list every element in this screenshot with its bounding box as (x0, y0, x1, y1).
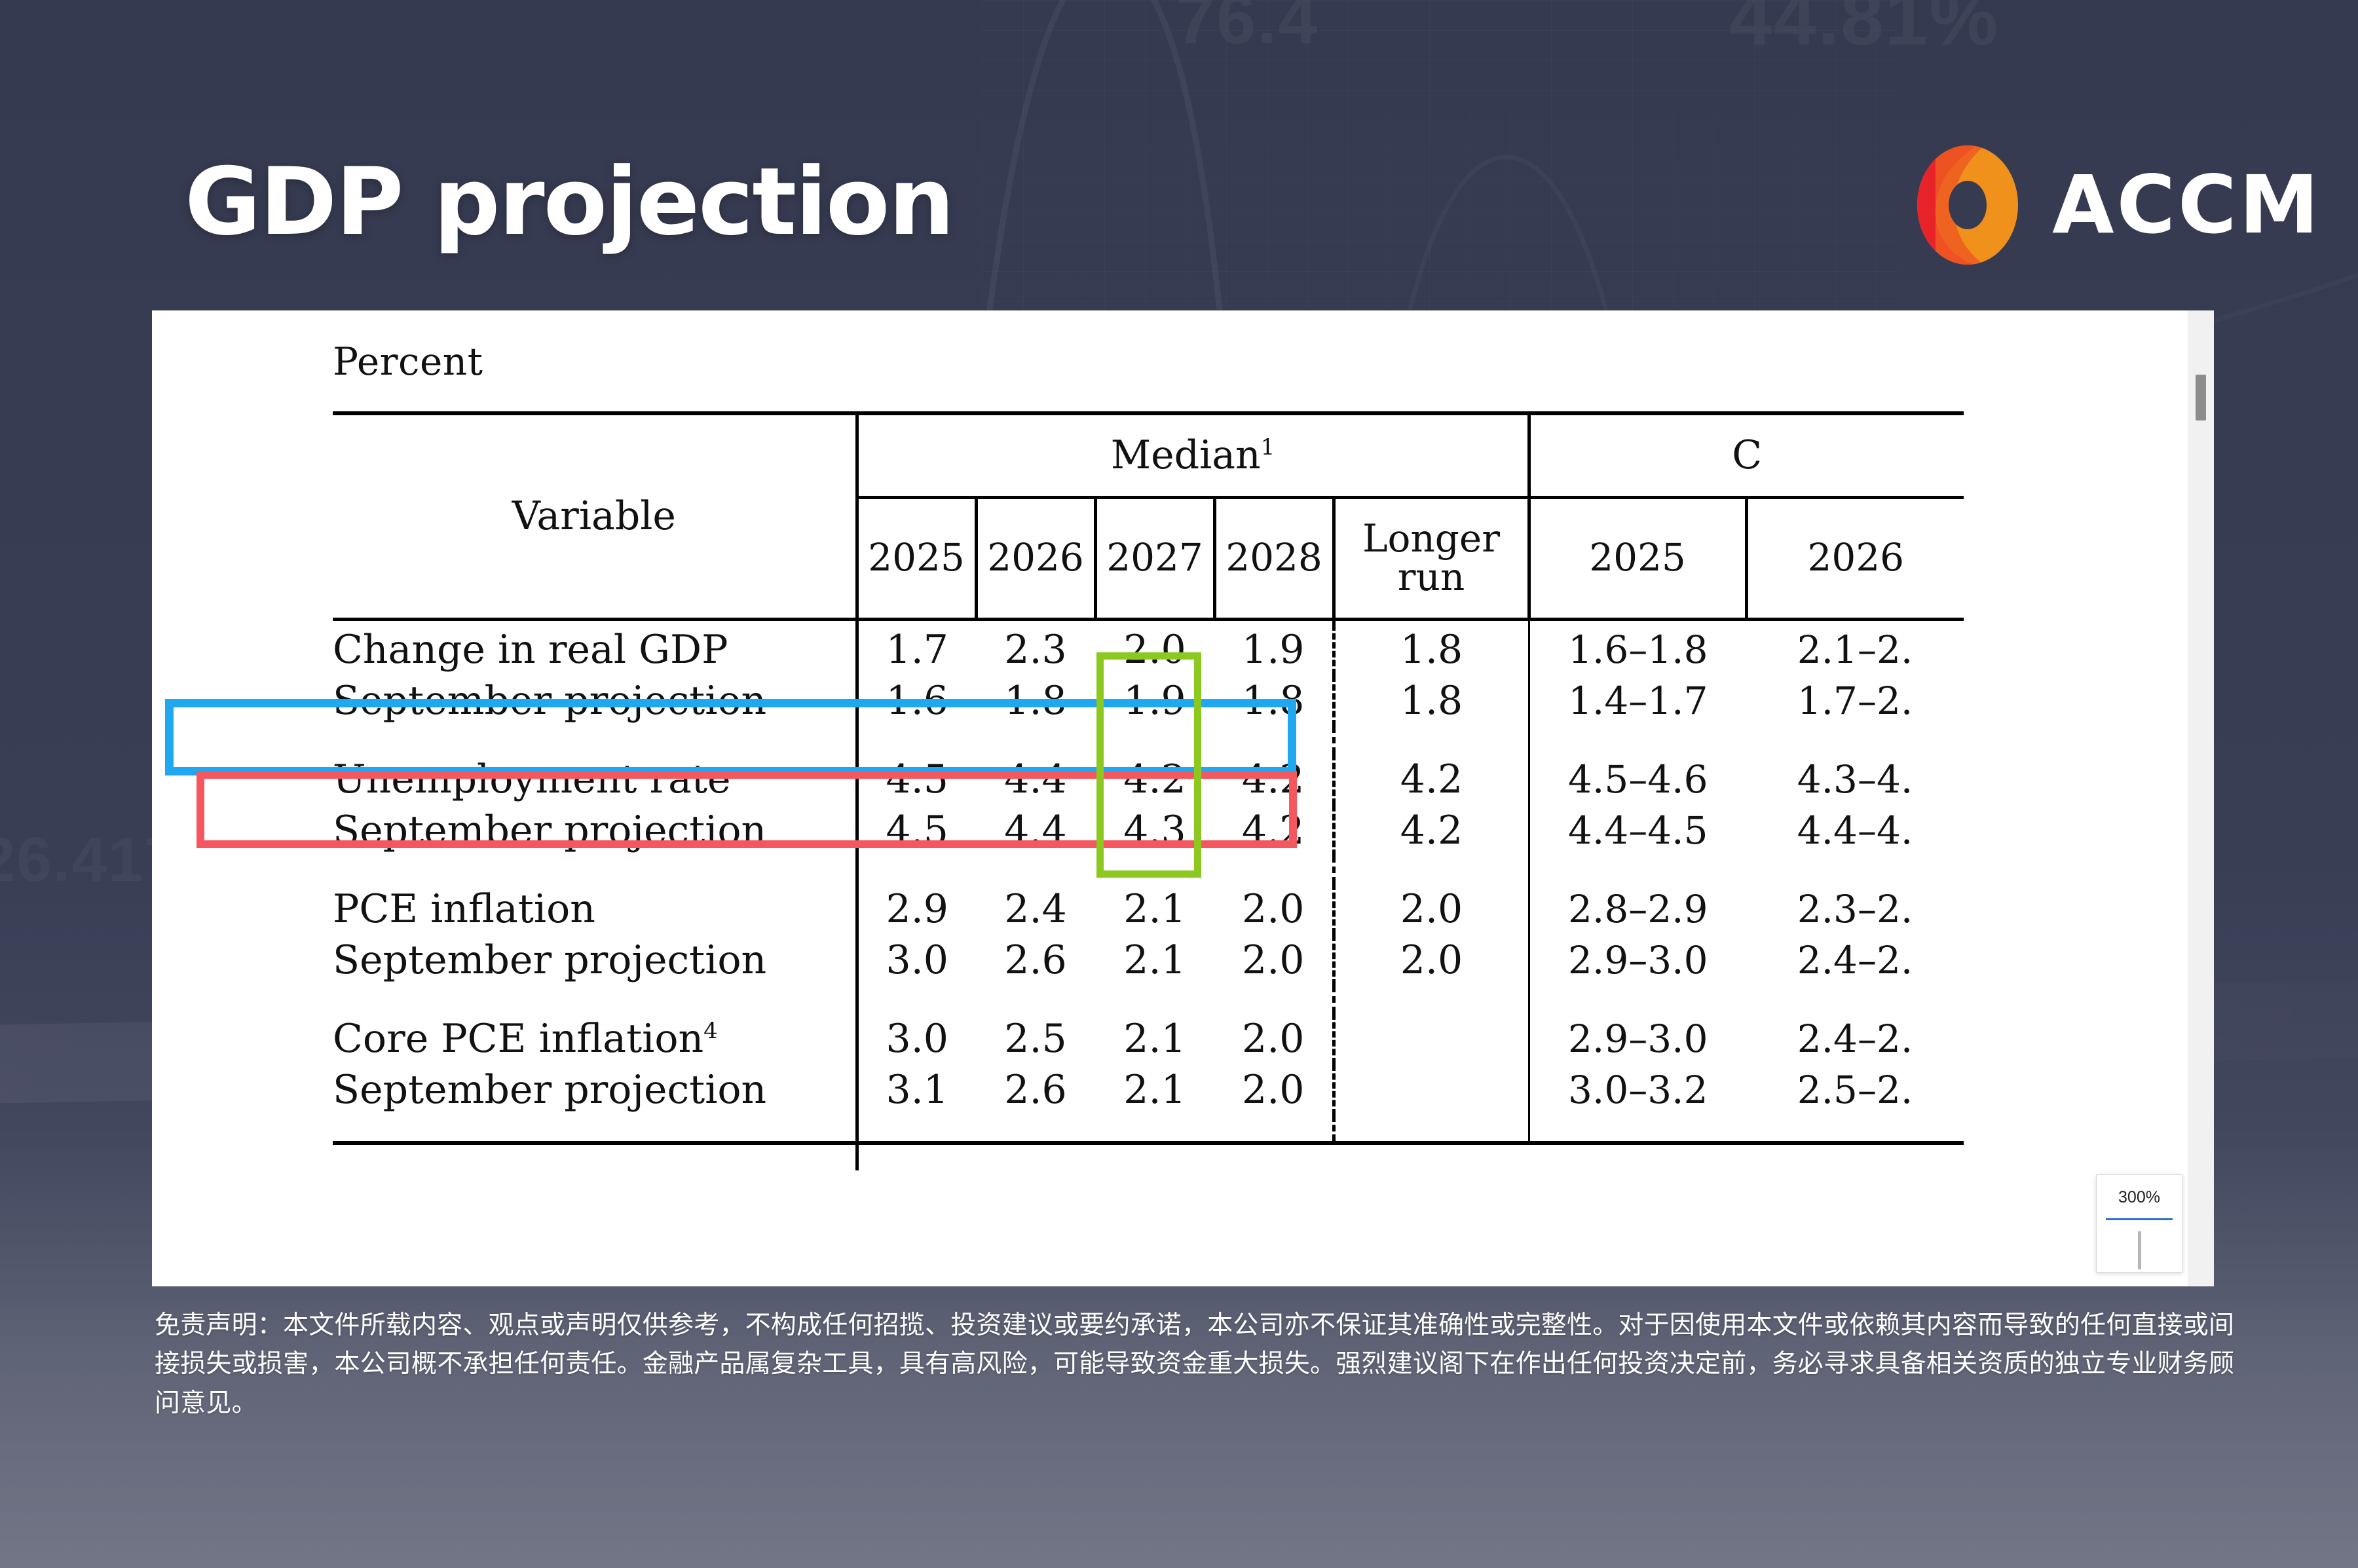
row-label: Core PCE inflation4 (333, 1013, 857, 1064)
cell-median-2028: 2.0 (1214, 1013, 1334, 1064)
cell-median-2027: 2.1 (1095, 1064, 1214, 1115)
cell-median-2026: 4.4 (976, 754, 1095, 805)
fed-projections-table-container: Percent Variable Median1 C 2025 (152, 310, 2214, 1170)
spacer-row (333, 1115, 1964, 1143)
cell-median-2025: 3.0 (857, 1013, 976, 1064)
column-header-range-2026: 2026 (1746, 497, 1964, 619)
page-title: GDP projection (185, 156, 954, 249)
cell-range-2026: 2.4–2. (1746, 935, 1964, 986)
cell-median-2025: 1.6 (857, 675, 976, 726)
cell-median-2028: 1.9 (1214, 624, 1334, 675)
document-viewer[interactable]: Percent Variable Median1 C 2025 (152, 310, 2214, 1286)
longer-run-line-1: Longer (1362, 516, 1500, 561)
longer-run-line-2: run (1398, 555, 1465, 599)
cell-longer-run: 2.0 (1334, 884, 1529, 935)
zoom-slider-handle[interactable] (2138, 1231, 2141, 1269)
cell-range-2025: 2.9–3.0 (1529, 1013, 1746, 1064)
row-label-text: Change in real GDP (333, 627, 728, 673)
column-header-variable: Variable (333, 413, 857, 619)
cell-median-2026: 4.4 (976, 805, 1095, 856)
cell-median-2025: 4.5 (857, 805, 976, 856)
row-label: September projection (333, 675, 857, 726)
table-row[interactable]: Core PCE inflation4 3.0 2.5 2.1 2.0 2.9–… (333, 1013, 1964, 1064)
zoom-control-popup[interactable]: 300% (2096, 1174, 2182, 1273)
column-header-median-2025: 2025 (857, 497, 976, 619)
cell-range-2026: 1.7–2. (1746, 675, 1964, 726)
table-row[interactable]: September projection 1.6 1.8 1.9 1.8 1.8… (333, 675, 1964, 726)
cell-median-2025: 3.0 (857, 935, 976, 986)
cell-median-2025: 4.5 (857, 754, 976, 805)
column-header-longer-run: Longer run (1334, 497, 1529, 619)
cell-median-2027: 1.9 (1095, 675, 1214, 726)
table-row[interactable]: September projection 4.5 4.4 4.3 4.2 4.2… (333, 805, 1964, 856)
cell-median-2026: 2.6 (976, 1064, 1095, 1115)
cell-range-2026: 2.3–2. (1746, 884, 1964, 935)
group-label-median: Median (1111, 432, 1261, 478)
spacer-row (333, 726, 1964, 754)
spacer-row (333, 986, 1964, 1013)
cell-range-2025: 3.0–3.2 (1529, 1064, 1746, 1115)
cell-range-2025: 2.8–2.9 (1529, 884, 1746, 935)
cell-longer-run (1334, 1064, 1529, 1115)
disclaimer-text: 免责声明：本文件所载内容、观点或声明仅供参考，不构成任何招揽、投资建议或要约承诺… (155, 1306, 2243, 1423)
row-label: Change in real GDP (333, 624, 857, 675)
scrollbar-thumb[interactable] (2196, 375, 2206, 420)
column-group-median: Median1 (857, 413, 1529, 497)
row-label: PCE inflation (333, 884, 857, 935)
cell-median-2025: 1.7 (857, 624, 976, 675)
cell-median-2027: 2.1 (1095, 1013, 1214, 1064)
cell-range-2025: 4.5–4.6 (1529, 754, 1746, 805)
table-body: Change in real GDP 1.7 2.3 2.0 1.9 1.8 1… (333, 619, 1964, 1170)
cell-longer-run: 4.2 (1334, 754, 1529, 805)
cell-median-2025: 2.9 (857, 884, 976, 935)
row-label-footnote: 4 (703, 1018, 718, 1044)
zoom-slider-track[interactable] (2106, 1218, 2173, 1220)
row-label: Unemployment rate (333, 754, 857, 805)
cell-range-2026: 2.5–2. (1746, 1064, 1964, 1115)
row-label: September projection (333, 1064, 857, 1115)
table-row[interactable]: September projection 3.0 2.6 2.1 2.0 2.0… (333, 935, 1964, 986)
zoom-level-label: 300% (2097, 1175, 2182, 1207)
background-number-1: 76.4 (1176, 0, 1319, 60)
cell-median-2027: 4.2 (1095, 754, 1214, 805)
document-scrollbar[interactable] (2188, 310, 2214, 1286)
table-row[interactable]: Unemployment rate 4.5 4.4 4.2 4.2 4.2 4.… (333, 754, 1964, 805)
column-group-range: C (1529, 413, 1964, 497)
fed-projections-table: Variable Median1 C 2025 2026 2027 2028 L… (333, 411, 1964, 1170)
cell-median-2026: 1.8 (976, 675, 1095, 726)
cell-range-2026: 2.4–2. (1746, 1013, 1964, 1064)
cell-median-2026: 2.4 (976, 884, 1095, 935)
cell-median-2028: 2.0 (1214, 1064, 1334, 1115)
cell-longer-run (1334, 1013, 1529, 1064)
cell-range-2025: 4.4–4.5 (1529, 805, 1746, 856)
group-footnote-median: 1 (1261, 434, 1275, 460)
cell-range-2025: 2.9–3.0 (1529, 935, 1746, 986)
column-header-median-2028: 2028 (1214, 497, 1334, 619)
table-head: Variable Median1 C 2025 2026 2027 2028 L… (333, 413, 1964, 619)
cell-median-2026: 2.5 (976, 1013, 1095, 1064)
cell-longer-run: 1.8 (1334, 624, 1529, 675)
cell-median-2025: 3.1 (857, 1064, 976, 1115)
spacer-row (333, 619, 1964, 624)
column-header-median-2026: 2026 (976, 497, 1095, 619)
brand-logo: ACCM (1909, 143, 2321, 267)
cell-range-2025: 1.4–1.7 (1529, 675, 1746, 726)
column-header-median-2027: 2027 (1095, 497, 1214, 619)
cell-median-2026: 2.6 (976, 935, 1095, 986)
group-label-range: C (1732, 432, 1762, 478)
row-label: September projection (333, 935, 857, 986)
table-caption: Percent (333, 339, 2214, 384)
row-label: September projection (333, 805, 857, 856)
spacer-row (333, 856, 1964, 884)
cell-median-2027: 2.1 (1095, 935, 1214, 986)
column-header-range-2025: 2025 (1529, 497, 1746, 619)
cell-median-2028: 4.2 (1214, 754, 1334, 805)
cell-median-2028: 2.0 (1214, 935, 1334, 986)
accm-swirl-logo-icon (1909, 143, 2026, 267)
table-row[interactable]: PCE inflation 2.9 2.4 2.1 2.0 2.0 2.8–2.… (333, 884, 1964, 935)
cell-range-2025: 1.6–1.8 (1529, 624, 1746, 675)
cell-median-2028: 4.2 (1214, 805, 1334, 856)
row-label-text: Core PCE inflation (333, 1016, 703, 1062)
cell-longer-run: 1.8 (1334, 675, 1529, 726)
table-row[interactable]: Change in real GDP 1.7 2.3 2.0 1.9 1.8 1… (333, 624, 1964, 675)
cell-median-2027: 2.0 (1095, 624, 1214, 675)
brand-name: ACCM (2052, 159, 2321, 252)
cell-range-2026: 4.3–4. (1746, 754, 1964, 805)
cell-median-2027: 2.1 (1095, 884, 1214, 935)
background-number-2: 44.81% (1729, 0, 1999, 63)
cell-longer-run: 2.0 (1334, 935, 1529, 986)
cell-median-2028: 1.8 (1214, 675, 1334, 726)
cell-median-2027: 4.3 (1095, 805, 1214, 856)
cell-median-2028: 2.0 (1214, 884, 1334, 935)
table-row[interactable]: September projection 3.1 2.6 2.1 2.0 3.0… (333, 1064, 1964, 1115)
cell-longer-run: 4.2 (1334, 805, 1529, 856)
spacer-row-clipped (333, 1143, 1964, 1170)
cell-median-2026: 2.3 (976, 624, 1095, 675)
cell-range-2026: 2.1–2. (1746, 624, 1964, 675)
cell-range-2026: 4.4–4. (1746, 805, 1964, 856)
